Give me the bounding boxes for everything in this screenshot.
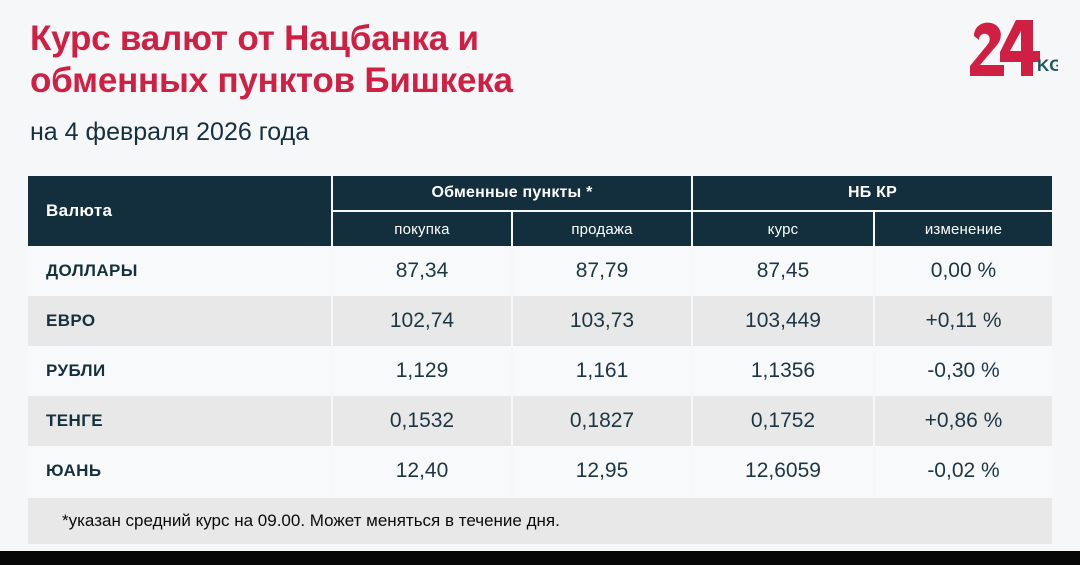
cell-buy: 102,74 bbox=[332, 296, 512, 346]
column-header-rate: курс bbox=[692, 211, 874, 246]
cell-buy: 12,40 bbox=[332, 446, 512, 497]
cell-rate: 1,1356 bbox=[692, 346, 874, 396]
currency-rates-table: Валюта Обменные пункты * НБ КР покупка п… bbox=[28, 176, 1052, 544]
title-block: Курс валют от Нацбанка и обменных пункто… bbox=[30, 18, 830, 147]
column-header-currency: Валюта bbox=[28, 176, 332, 246]
cell-currency-name: ЮАНЬ bbox=[28, 446, 332, 497]
cell-currency-name: ЕВРО bbox=[28, 296, 332, 346]
table-row: ДОЛЛАРЫ 87,34 87,79 87,45 0,00 % bbox=[28, 246, 1052, 296]
cell-change: -0,02 % bbox=[874, 446, 1052, 497]
page-header: Курс валют от Нацбанка и обменных пункто… bbox=[0, 0, 1080, 170]
cell-sell: 1,161 bbox=[512, 346, 692, 396]
column-header-sell: продажа bbox=[512, 211, 692, 246]
cell-buy: 87,34 bbox=[332, 246, 512, 296]
column-group-header-national-bank: НБ КР bbox=[692, 176, 1052, 211]
cell-change: -0,30 % bbox=[874, 346, 1052, 396]
cell-currency-name: ДОЛЛАРЫ bbox=[28, 246, 332, 296]
cell-change: +0,11 % bbox=[874, 296, 1052, 346]
table-footnote: *указан средний курс на 09.00. Может мен… bbox=[28, 497, 1052, 544]
cell-change: 0,00 % bbox=[874, 246, 1052, 296]
logo-suffix-text: KG bbox=[1037, 56, 1058, 75]
cell-buy: 0,1532 bbox=[332, 396, 512, 446]
table-row: ТЕНГЕ 0,1532 0,1827 0,1752 +0,86 % bbox=[28, 396, 1052, 446]
brand-logo-24kg: KG bbox=[966, 18, 1058, 80]
cell-currency-name: ТЕНГЕ bbox=[28, 396, 332, 446]
column-header-buy: покупка bbox=[332, 211, 512, 246]
bottom-bar bbox=[0, 551, 1080, 565]
column-group-header-exchange-points: Обменные пункты * bbox=[332, 176, 692, 211]
column-header-change: изменение bbox=[874, 211, 1052, 246]
table-row: ЕВРО 102,74 103,73 103,449 +0,11 % bbox=[28, 296, 1052, 346]
footnote-row: *указан средний курс на 09.00. Может мен… bbox=[28, 497, 1052, 544]
cell-sell: 0,1827 bbox=[512, 396, 692, 446]
table-body: ДОЛЛАРЫ 87,34 87,79 87,45 0,00 % ЕВРО 10… bbox=[28, 246, 1052, 497]
cell-rate: 12,6059 bbox=[692, 446, 874, 497]
rates-table-wrapper: Валюта Обменные пункты * НБ КР покупка п… bbox=[28, 176, 1052, 544]
table-foot: *указан средний курс на 09.00. Может мен… bbox=[28, 497, 1052, 544]
table-row: РУБЛИ 1,129 1,161 1,1356 -0,30 % bbox=[28, 346, 1052, 396]
cell-sell: 12,95 bbox=[512, 446, 692, 497]
table-header-row-groups: Валюта Обменные пункты * НБ КР bbox=[28, 176, 1052, 211]
logo-icon: KG bbox=[966, 18, 1058, 80]
page-title: Курс валют от Нацбанка и обменных пункто… bbox=[30, 18, 830, 102]
cell-rate: 103,449 bbox=[692, 296, 874, 346]
cell-rate: 87,45 bbox=[692, 246, 874, 296]
cell-sell: 87,79 bbox=[512, 246, 692, 296]
table-head: Валюта Обменные пункты * НБ КР покупка п… bbox=[28, 176, 1052, 246]
page-subtitle: на 4 февраля 2026 года bbox=[30, 102, 830, 147]
cell-change: +0,86 % bbox=[874, 396, 1052, 446]
cell-buy: 1,129 bbox=[332, 346, 512, 396]
cell-currency-name: РУБЛИ bbox=[28, 346, 332, 396]
cell-rate: 0,1752 bbox=[692, 396, 874, 446]
infographic-page: Курс валют от Нацбанка и обменных пункто… bbox=[0, 0, 1080, 565]
cell-sell: 103,73 bbox=[512, 296, 692, 346]
table-row: ЮАНЬ 12,40 12,95 12,6059 -0,02 % bbox=[28, 446, 1052, 497]
